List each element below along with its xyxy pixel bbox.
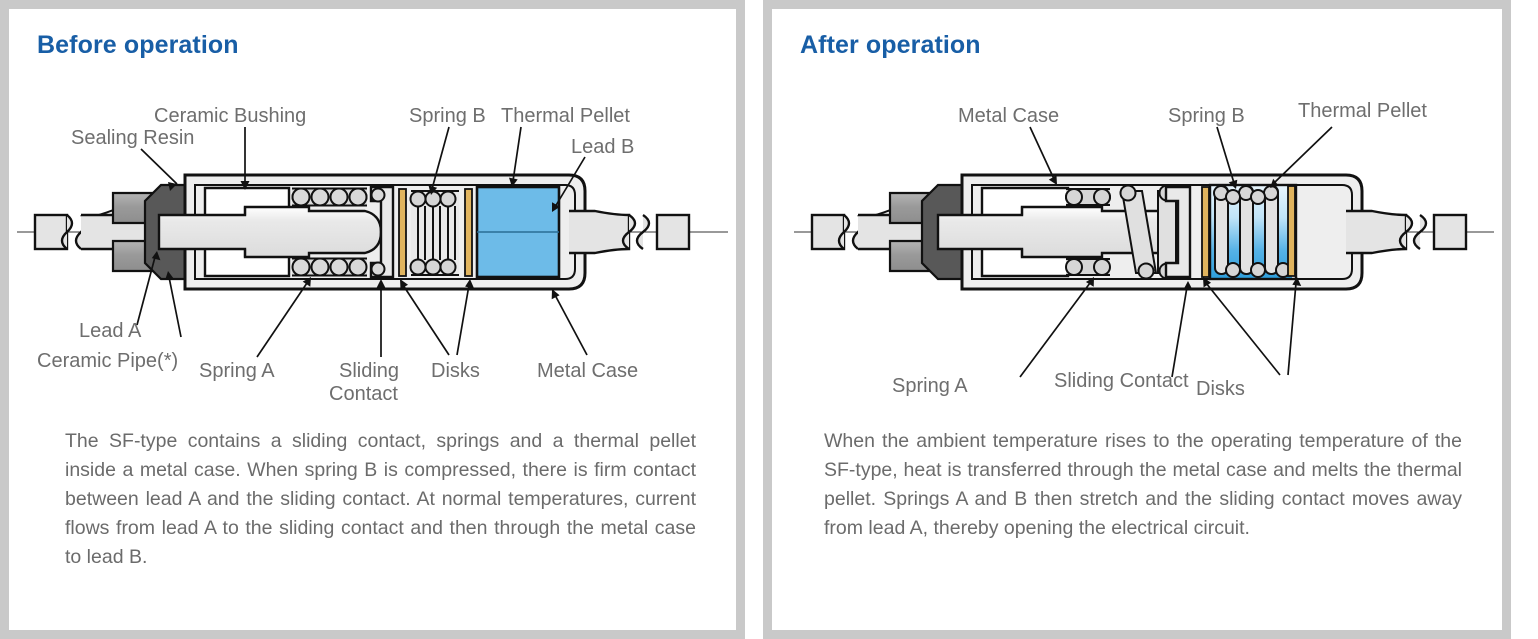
label-spring-b: Spring B	[1168, 105, 1245, 127]
lead-b-wire	[1346, 211, 1466, 253]
panel-before-operation: Before operation	[0, 0, 745, 639]
spring-a-bottom	[292, 259, 367, 276]
label-lead-a: Lead A	[79, 320, 142, 342]
svg-after: Metal Case Spring B Thermal Pellet Sprin…	[772, 87, 1502, 417]
description-before: The SF-type contains a sliding contact, …	[65, 427, 696, 572]
label-metal-case: Metal Case	[958, 105, 1059, 127]
disk-right	[1288, 186, 1295, 276]
label-spring-b: Spring B	[409, 105, 486, 127]
spring-b	[411, 191, 460, 275]
svg-before: Sealing Resin Ceramic Bushing Spring B T…	[9, 87, 736, 417]
label-disks: Disks	[1196, 378, 1245, 400]
label-metal-case: Metal Case	[537, 360, 638, 382]
spring-a-top	[292, 189, 367, 206]
label-sliding-contact-line2: Contact	[329, 383, 398, 405]
comparison-figure: Before operation	[0, 0, 1538, 639]
lead-b-wire	[569, 211, 689, 253]
disk-right	[465, 189, 472, 276]
diagram-before-operation: Sealing Resin Ceramic Bushing Spring B T…	[9, 87, 736, 407]
thermal-pellet	[477, 187, 559, 277]
disk-left	[399, 189, 406, 276]
description-after: When the ambient temperature rises to th…	[824, 427, 1462, 543]
label-ceramic-bushing: Ceramic Bushing	[154, 105, 306, 127]
label-lead-b: Lead B	[571, 136, 634, 158]
label-ceramic-pipe: Ceramic Pipe(*)	[37, 350, 178, 372]
label-sealing-resin: Sealing Resin	[71, 127, 194, 149]
label-thermal-pellet: Thermal Pellet	[501, 105, 630, 127]
page-title-before: Before operation	[37, 31, 239, 60]
panel-after-operation: After operation	[763, 0, 1511, 639]
label-spring-a: Spring A	[199, 360, 275, 382]
label-sliding-contact-line1: Sliding	[339, 360, 399, 382]
page-title-after: After operation	[800, 31, 981, 60]
spring-b	[1214, 186, 1290, 277]
sliding-contact	[159, 207, 381, 257]
label-disks: Disks	[431, 360, 480, 382]
diagram-after-operation: Metal Case Spring B Thermal Pellet Sprin…	[772, 87, 1502, 407]
label-spring-a: Spring A	[892, 375, 968, 397]
label-sliding-contact: Sliding Contact	[1054, 370, 1189, 392]
label-thermal-pellet: Thermal Pellet	[1298, 100, 1427, 122]
spring-a-bottom	[1066, 259, 1110, 275]
disk-left	[1202, 187, 1209, 277]
